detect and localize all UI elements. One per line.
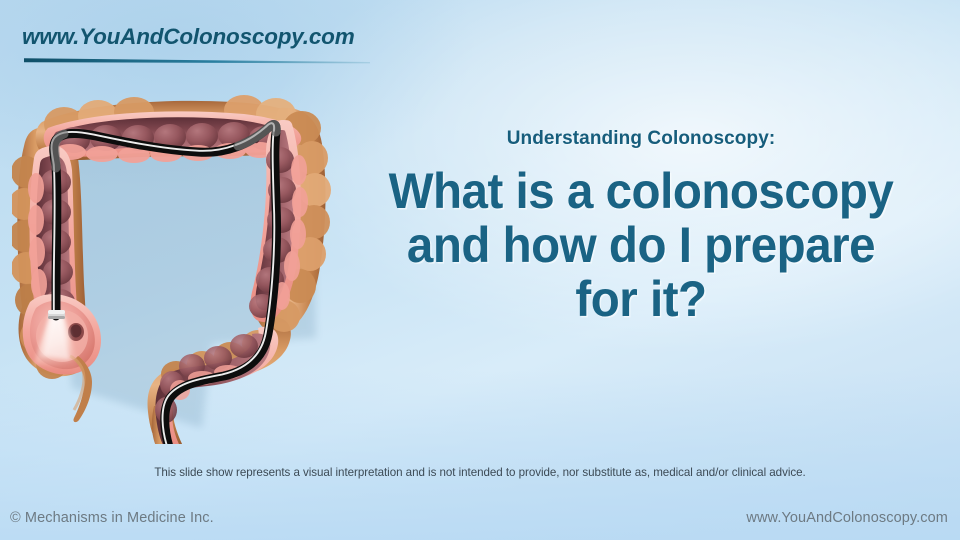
title-eyebrow: Understanding Colonoscopy: [335, 128, 947, 150]
colon-anatomy-svg [12, 88, 352, 444]
site-logo-text: www.YouAndColonoscopy.com [22, 26, 382, 49]
disclaimer-text: This slide show represents a visual inte… [0, 466, 960, 479]
logo-underline-swoosh [24, 57, 370, 64]
footer-website[interactable]: www.YouAndColonoscopy.com [746, 510, 948, 526]
page-title-line-1: What is a colonoscopy [350, 164, 931, 218]
page-title-line-2: and how do I prepare [350, 218, 931, 272]
site-logo[interactable]: www.YouAndColonoscopy.com [22, 26, 382, 74]
footer-copyright: © Mechanisms in Medicine Inc. [10, 510, 214, 526]
page-title-line-3: for it? [350, 272, 931, 326]
slide-canvas: www.YouAndColonoscopy.com [0, 0, 960, 540]
colon-with-colonoscope-illustration [12, 88, 352, 444]
page-title: What is a colonoscopy and how do I prepa… [350, 164, 931, 326]
title-block: Understanding Colonoscopy: What is a col… [335, 128, 947, 326]
